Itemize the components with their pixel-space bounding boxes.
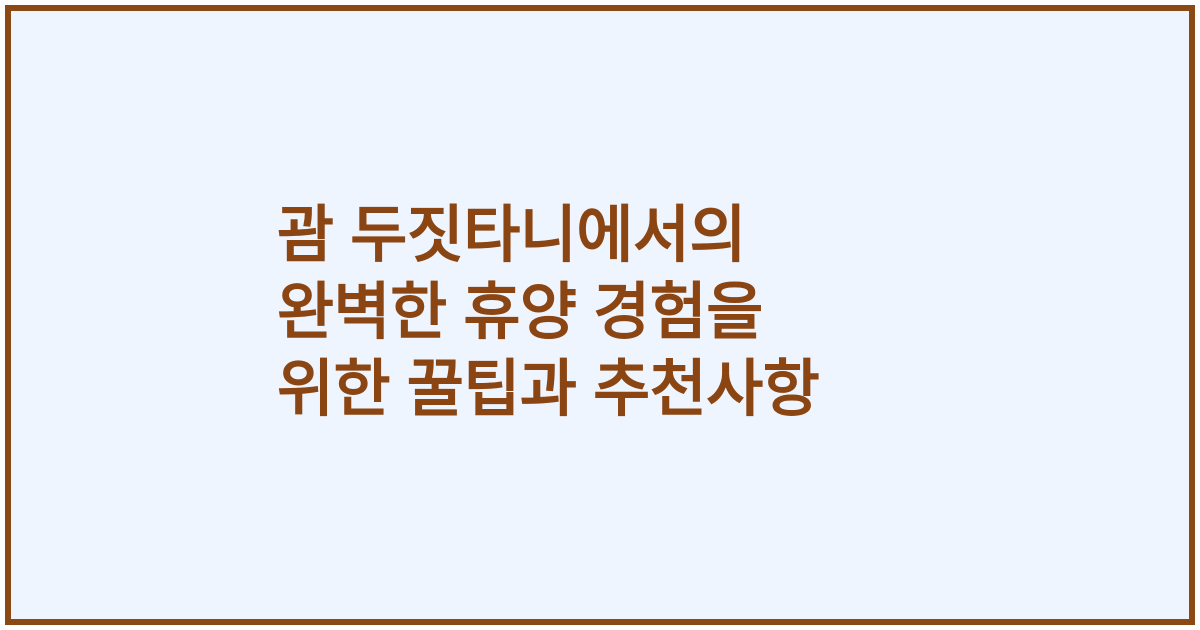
card-frame: 괌 두짓타니에서의 완벽한 휴양 경험을 위한 꿀팁과 추천사항 xyxy=(5,5,1195,625)
headline-line-3: 위한 꿀팁과 추천사항 xyxy=(277,351,819,428)
headline-line-1: 괌 두짓타니에서의 xyxy=(277,197,819,274)
thumbnail-card: 괌 두짓타니에서의 완벽한 휴양 경험을 위한 꿀팁과 추천사항 xyxy=(0,0,1200,630)
headline-line-2: 완벽한 휴양 경험을 xyxy=(277,274,819,351)
headline-block: 괌 두짓타니에서의 완벽한 휴양 경험을 위한 꿀팁과 추천사항 xyxy=(11,197,859,434)
